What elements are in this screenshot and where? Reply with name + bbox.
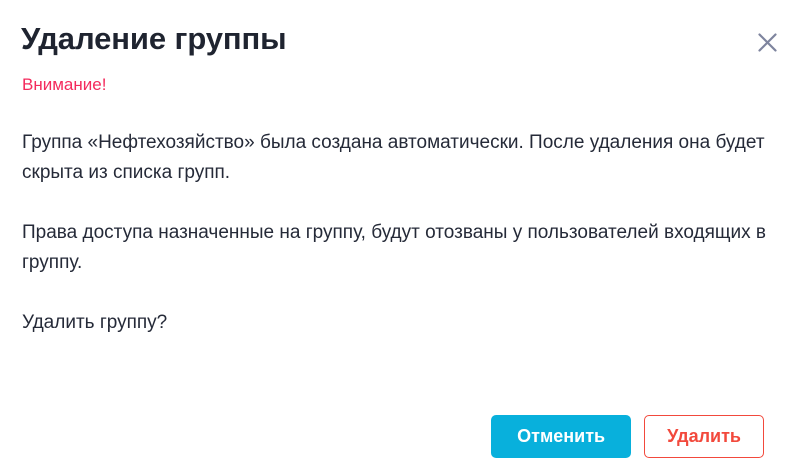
close-icon bbox=[757, 32, 778, 53]
dialog-body: Группа «Нефтехозяйство» была создана авт… bbox=[22, 128, 784, 338]
body-paragraph-2: Права доступа назначенные на группу, буд… bbox=[22, 218, 784, 278]
page-title: Удаление группы bbox=[21, 19, 287, 59]
cancel-button[interactable]: Отменить bbox=[491, 415, 631, 458]
dialog-header: Удаление группы Внимание! bbox=[0, 0, 806, 105]
delete-group-dialog: Удаление группы Внимание! Группа «Нефтех… bbox=[0, 0, 806, 473]
close-button[interactable] bbox=[750, 25, 784, 59]
body-paragraph-1: Группа «Нефтехозяйство» была создана авт… bbox=[22, 128, 784, 188]
warning-label: Внимание! bbox=[22, 74, 106, 96]
delete-button[interactable]: Удалить bbox=[644, 415, 764, 458]
dialog-footer: Отменить Удалить bbox=[0, 399, 806, 473]
body-paragraph-confirm-question: Удалить группу? bbox=[22, 308, 784, 338]
